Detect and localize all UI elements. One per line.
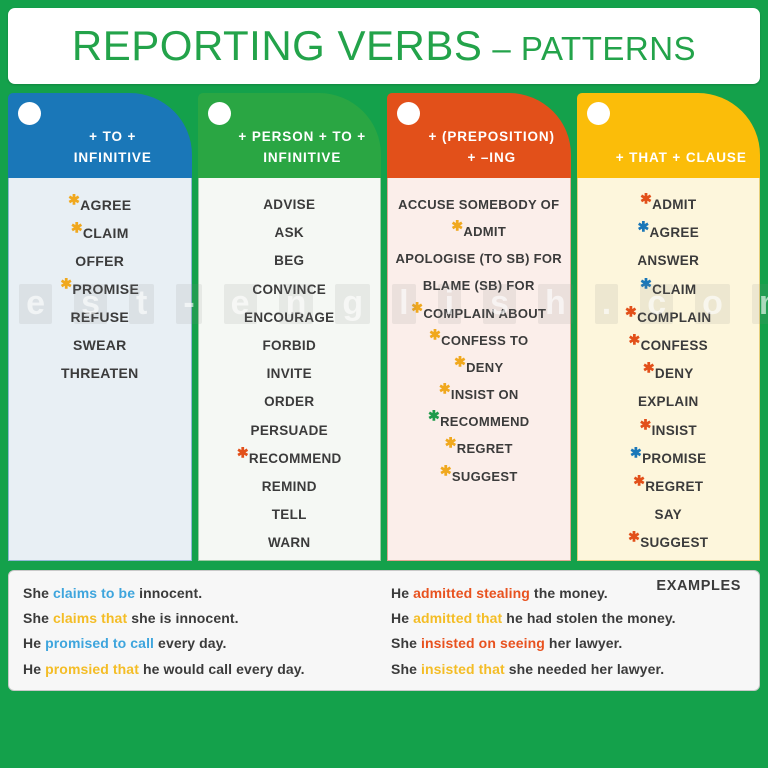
verb-label: SUGGEST	[452, 469, 518, 484]
asterisk-marker-icon: ✱	[454, 354, 466, 370]
verb-item: ORDER	[264, 388, 314, 416]
example-highlight: admitted that	[413, 610, 502, 626]
example-sentence: She insisted that she needed her lawyer.	[391, 657, 745, 682]
verb-label: CLAIM	[83, 225, 129, 241]
verb-item: SWEAR	[73, 331, 127, 359]
bullet-dot-icon	[18, 102, 41, 125]
verb-label: ASK	[275, 225, 304, 240]
header-line-1: + THAT + CLAUSE	[590, 148, 747, 169]
verb-label: COMPLAIN ABOUT	[423, 306, 546, 321]
verb-label: CONFESS	[641, 338, 708, 353]
verb-item: ✱ADMIT	[640, 191, 696, 219]
verb-label: ADMIT	[463, 224, 506, 239]
verb-label: SWEAR	[73, 337, 127, 353]
example-prefix: He	[391, 610, 413, 626]
verb-item: ✱CLAIM	[71, 219, 129, 247]
verb-item: ACCUSE SOMEBODY OF	[398, 191, 559, 218]
asterisk-marker-icon: ✱	[640, 191, 652, 207]
verb-item: ✱RECOMMEND	[428, 408, 529, 435]
verb-label: RECOMMEND	[440, 414, 529, 429]
example-highlight: insisted on seeing	[421, 635, 545, 651]
verb-label: WARN	[268, 535, 310, 550]
asterisk-marker-icon: ✱	[637, 219, 649, 235]
verb-label: PERSUADE	[251, 423, 328, 438]
verb-label: RECOMMEND	[249, 451, 342, 466]
verb-list-person-to-infinitive: ADVISEASKBEGCONVINCEENCOURAGEFORBIDINVIT…	[198, 178, 382, 561]
verb-label: ENCOURAGE	[244, 310, 334, 325]
page-title-main: REPORTING VERBS	[72, 22, 482, 70]
verb-label: COMPLAIN	[637, 310, 711, 325]
verb-label: AGREE	[80, 197, 131, 213]
verb-item: ✱PROMISE	[60, 275, 139, 303]
asterisk-marker-icon: ✱	[68, 191, 80, 207]
asterisk-marker-icon: ✱	[237, 444, 249, 460]
verb-item: FORBID	[262, 332, 316, 360]
example-highlight: promsied that	[45, 661, 139, 677]
verb-label: FORBID	[262, 338, 316, 353]
verb-item: ✱INSIST ON	[439, 381, 519, 408]
asterisk-marker-icon: ✱	[439, 381, 451, 397]
verb-label: REGRET	[457, 441, 513, 456]
example-prefix: He	[23, 661, 45, 677]
example-prefix: She	[23, 585, 53, 601]
verb-item: BLAME (SB) FOR	[423, 272, 535, 299]
verb-item: BEG	[274, 247, 304, 275]
verb-label: TELL	[272, 507, 307, 522]
example-highlight: claims to be	[53, 585, 135, 601]
verb-item: ✱CONFESS TO	[429, 327, 528, 354]
verb-item: ASK	[275, 219, 304, 247]
verb-item: REFUSE	[70, 303, 129, 331]
bullet-dot-icon	[208, 102, 231, 125]
header-line-1: + PERSON + TO +	[212, 127, 366, 148]
header-line-1: + TO +	[63, 127, 136, 148]
verb-item: THREATEN	[61, 359, 139, 387]
examples-column-right: He admitted stealing the money.He admitt…	[377, 581, 745, 681]
verb-item: ✱AGREE	[637, 219, 699, 247]
verb-item: ✱COMPLAIN ABOUT	[411, 300, 546, 327]
asterisk-marker-icon: ✱	[633, 473, 645, 489]
verb-item: ✱DENY	[454, 354, 503, 381]
verb-item: ✱DENY	[643, 360, 694, 388]
column-header-preposition-ing[interactable]: + (PREPOSITION) + –ING	[387, 93, 571, 178]
verb-label: EXPLAIN	[638, 394, 699, 409]
example-suffix: innocent.	[135, 585, 202, 601]
verb-label: BLAME (SB) FOR	[423, 278, 535, 293]
example-sentence: He promised to call every day.	[23, 631, 377, 656]
verb-list-that-clause: ✱ADMIT✱AGREEANSWER✱CLAIM✱COMPLAIN✱CONFES…	[577, 178, 761, 561]
example-highlight: claims that	[53, 610, 127, 626]
asterisk-marker-icon: ✱	[640, 275, 652, 291]
examples-grid: She claims to be innocent.She claims tha…	[23, 581, 745, 681]
verb-label: REFUSE	[70, 309, 129, 325]
example-suffix: every day.	[154, 635, 226, 651]
verb-label: ADMIT	[652, 197, 696, 212]
asterisk-marker-icon: ✱	[440, 462, 452, 478]
verb-label: ANSWER	[637, 253, 699, 268]
verb-label: OFFER	[75, 253, 124, 269]
asterisk-marker-icon: ✱	[60, 275, 72, 291]
verb-label: ORDER	[264, 394, 314, 409]
example-highlight: promised to call	[45, 635, 154, 651]
verb-label: SUGGEST	[640, 535, 708, 550]
verb-item: ✱ADMIT	[451, 218, 506, 245]
verb-label: PROMISE	[642, 451, 706, 466]
verb-item: ENCOURAGE	[244, 304, 334, 332]
verb-list-to-infinitive: ✱AGREE✱CLAIMOFFER✱PROMISEREFUSESWEARTHRE…	[8, 178, 192, 561]
verb-label: DENY	[655, 366, 694, 381]
asterisk-marker-icon: ✱	[411, 299, 423, 315]
example-suffix: she needed her lawyer.	[505, 661, 665, 677]
example-sentence: He admitted that he had stolen the money…	[391, 606, 745, 631]
verb-item: REMIND	[262, 473, 317, 501]
asterisk-marker-icon: ✱	[71, 219, 83, 235]
column-person-to-infinitive: + PERSON + TO + INFINITIVE ADVISEASKBEGC…	[198, 93, 382, 561]
verb-item: INVITE	[267, 360, 312, 388]
verb-label: REGRET	[645, 479, 703, 494]
verb-label: DENY	[466, 360, 503, 375]
example-highlight: admitted stealing	[413, 585, 530, 601]
verb-item: ✱CLAIM	[640, 276, 696, 304]
column-that-clause: + THAT + CLAUSE ✱ADMIT✱AGREEANSWER✱CLAIM…	[577, 93, 761, 561]
examples-panel: EXAMPLES She claims to be innocent.She c…	[8, 570, 760, 691]
verb-item: PERSUADE	[251, 417, 328, 445]
column-to-infinitive: + TO + INFINITIVE ✱AGREE✱CLAIMOFFER✱PROM…	[8, 93, 192, 561]
verb-item: EXPLAIN	[638, 388, 699, 416]
verb-label: CLAIM	[652, 282, 696, 297]
column-header-that-clause[interactable]: + THAT + CLAUSE	[577, 93, 761, 178]
example-sentence: He admitted stealing the money.	[391, 581, 745, 606]
verb-item: CONVINCE	[252, 276, 326, 304]
page-title-suffix: – PATTERNS	[492, 30, 696, 68]
verb-label: THREATEN	[61, 365, 139, 381]
verb-item: ✱COMPLAIN	[625, 304, 711, 332]
verb-label: INSIST	[652, 423, 697, 438]
verb-item: ✱SUGGEST	[440, 463, 518, 490]
asterisk-marker-icon: ✱	[640, 416, 652, 432]
verb-label: BEG	[274, 253, 304, 268]
verb-label: PROMISE	[72, 281, 139, 297]
example-prefix: She	[391, 661, 421, 677]
header-line-2: + –ING	[441, 148, 516, 169]
verb-item: ✱AGREE	[68, 191, 131, 219]
asterisk-marker-icon: ✱	[629, 332, 641, 348]
column-header-person-to-infinitive[interactable]: + PERSON + TO + INFINITIVE	[198, 93, 382, 178]
verb-item: ✱SUGGEST	[628, 529, 708, 557]
asterisk-marker-icon: ✱	[630, 444, 642, 460]
verb-label: INVITE	[267, 366, 312, 381]
verb-item: ANSWER	[637, 247, 699, 275]
verb-label: AGREE	[650, 225, 700, 240]
example-suffix: her lawyer.	[545, 635, 622, 651]
example-prefix: He	[391, 585, 413, 601]
header-line-2: INFINITIVE	[48, 148, 152, 169]
asterisk-marker-icon: ✱	[625, 303, 637, 319]
asterisk-marker-icon: ✱	[445, 435, 457, 451]
asterisk-marker-icon: ✱	[628, 529, 640, 545]
verb-label: CONVINCE	[252, 282, 326, 297]
header-line-1: + (PREPOSITION)	[403, 127, 555, 148]
header-line-2: INFINITIVE	[237, 148, 341, 169]
example-sentence: He promsied that he would call every day…	[23, 657, 377, 682]
example-suffix: she is innocent.	[127, 610, 238, 626]
example-suffix: the money.	[530, 585, 608, 601]
verb-item: ✱PROMISE	[630, 445, 706, 473]
example-highlight: insisted that	[421, 661, 505, 677]
verb-label: INSIST ON	[451, 387, 519, 402]
column-header-to-infinitive[interactable]: + TO + INFINITIVE	[8, 93, 192, 178]
asterisk-marker-icon: ✱	[643, 360, 655, 376]
verb-item: TELL	[272, 501, 307, 529]
verb-item: WARN	[268, 529, 310, 557]
column-preposition-ing: + (PREPOSITION) + –ING ACCUSE SOMEBODY O…	[387, 93, 571, 561]
infographic-frame: REPORTING VERBS – PATTERNS + TO + INFINI…	[8, 8, 760, 760]
example-prefix: He	[23, 635, 45, 651]
example-suffix: he would call every day.	[139, 661, 305, 677]
verb-list-preposition-ing: ACCUSE SOMEBODY OF✱ADMITAPOLOGISE (TO SB…	[387, 178, 571, 561]
verb-item: ✱CONFESS	[629, 332, 708, 360]
example-sentence: She insisted on seeing her lawyer.	[391, 631, 745, 656]
bullet-dot-icon	[587, 102, 610, 125]
verb-item: ✱REGRET	[633, 473, 703, 501]
verb-item: OFFER	[75, 247, 124, 275]
pattern-columns: + TO + INFINITIVE ✱AGREE✱CLAIMOFFER✱PROM…	[8, 93, 760, 561]
example-sentence: She claims to be innocent.	[23, 581, 377, 606]
verb-item: ADVISE	[263, 191, 315, 219]
asterisk-marker-icon: ✱	[429, 326, 441, 342]
title-card: REPORTING VERBS – PATTERNS	[8, 8, 760, 84]
example-prefix: She	[23, 610, 53, 626]
verb-label: ACCUSE SOMEBODY OF	[398, 197, 559, 212]
page-title: REPORTING VERBS – PATTERNS	[72, 22, 696, 70]
verb-item: APOLOGISE (TO SB) FOR	[396, 245, 562, 272]
example-sentence: She claims that she is innocent.	[23, 606, 377, 631]
asterisk-marker-icon: ✱	[451, 218, 463, 234]
verb-item: ✱INSIST	[640, 417, 697, 445]
example-suffix: he had stolen the money.	[502, 610, 675, 626]
verb-label: CONFESS TO	[441, 333, 528, 348]
verb-label: ADVISE	[263, 197, 315, 212]
verb-item: ✱RECOMMEND	[237, 445, 342, 473]
bullet-dot-icon	[397, 102, 420, 125]
asterisk-marker-icon: ✱	[428, 408, 440, 424]
verb-item: SAY	[655, 501, 682, 529]
verb-label: REMIND	[262, 479, 317, 494]
example-prefix: She	[391, 635, 421, 651]
examples-column-left: She claims to be innocent.She claims tha…	[23, 581, 377, 681]
verb-label: SAY	[655, 507, 682, 522]
verb-item: ✱REGRET	[445, 435, 513, 462]
verb-label: APOLOGISE (TO SB) FOR	[396, 251, 562, 266]
